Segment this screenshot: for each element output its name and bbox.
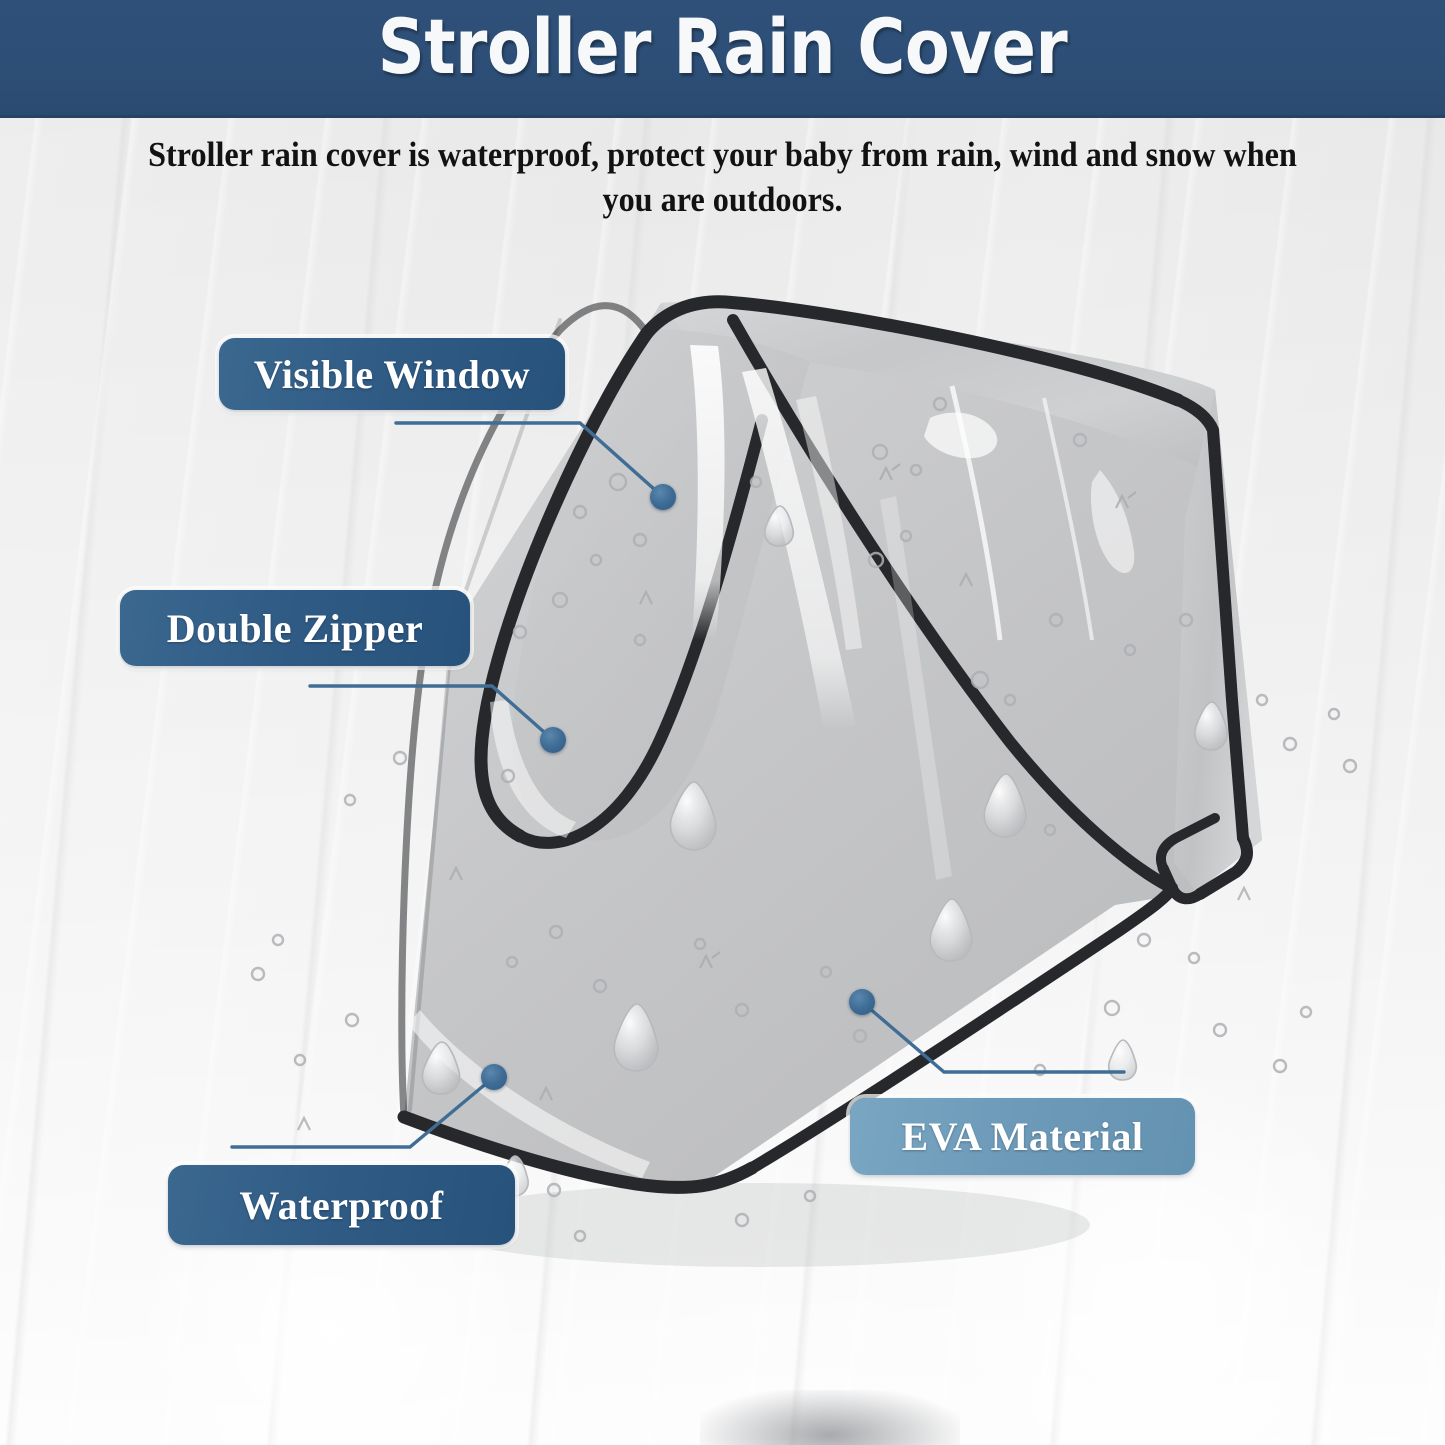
callout-text-double-zipper: Double Zipper <box>167 605 424 652</box>
callout-dot-eva-material <box>849 989 875 1015</box>
foreground-shadow <box>700 1390 960 1445</box>
callout-text-waterproof: Waterproof <box>239 1182 443 1229</box>
connector-waterproof <box>232 1077 494 1147</box>
callout-dot-waterproof <box>481 1064 507 1090</box>
callout-text-visible-window: Visible Window <box>254 351 530 398</box>
callout-text-eva-material: EVA Material <box>902 1113 1144 1160</box>
connector-eva-material <box>862 1002 1124 1072</box>
connector-double-zipper <box>310 686 553 740</box>
callout-dot-visible-window <box>650 484 676 510</box>
infographic-page: Stroller Rain Cover Stroller rain cover … <box>0 0 1445 1445</box>
connector-visible-window <box>396 423 663 497</box>
callout-label-eva-material: EVA Material <box>850 1098 1195 1175</box>
callout-label-waterproof: Waterproof <box>168 1165 515 1245</box>
callout-label-visible-window: Visible Window <box>219 338 565 410</box>
callout-dot-double-zipper <box>540 727 566 753</box>
callout-label-double-zipper: Double Zipper <box>120 590 470 666</box>
